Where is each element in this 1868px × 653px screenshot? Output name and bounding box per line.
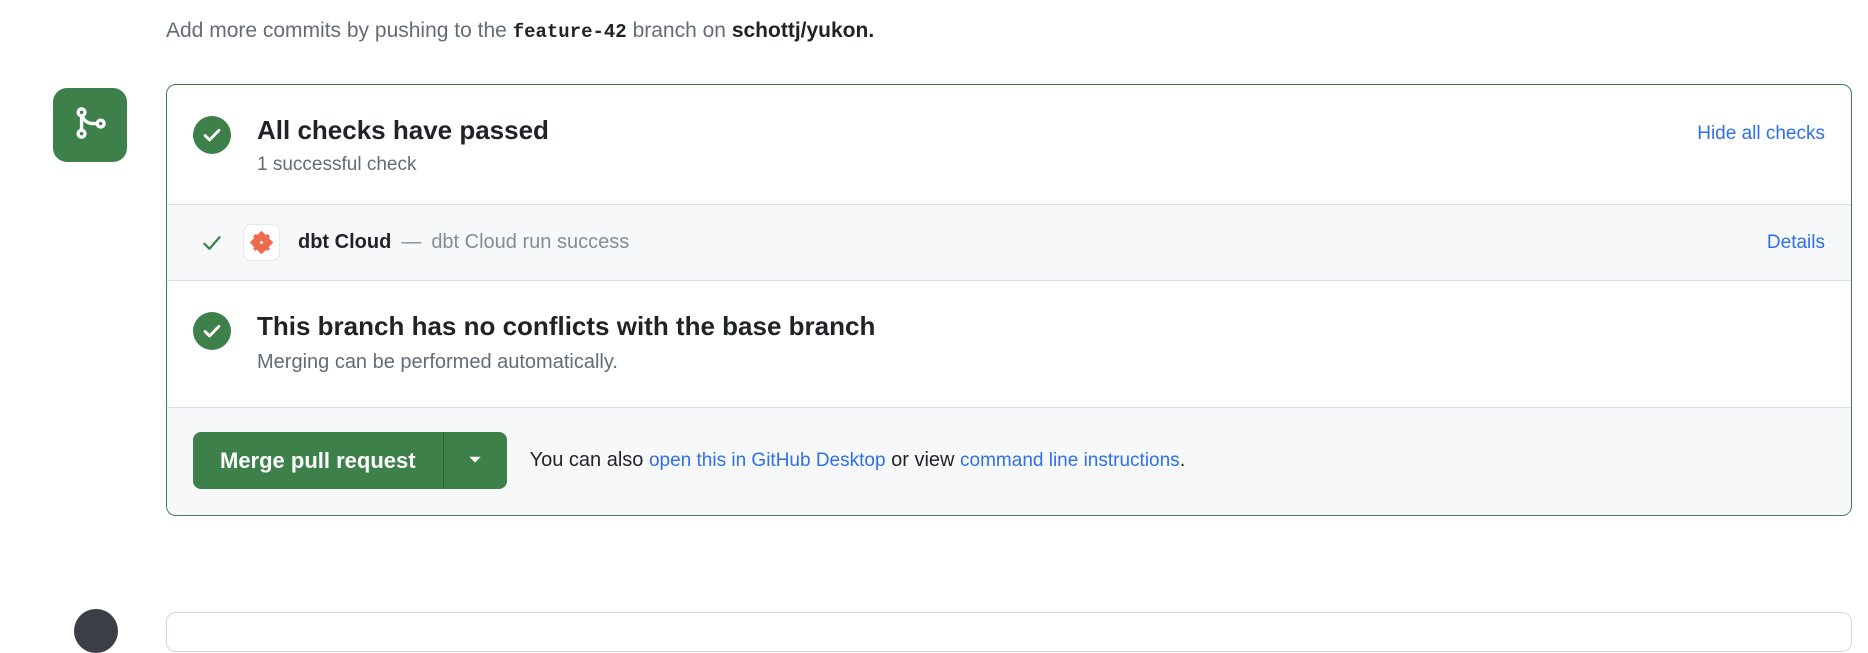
footer-middle: or view [891,449,954,471]
check-row-left: dbt Cloud — dbt Cloud run success [201,224,629,261]
merge-options-dropdown-button[interactable] [444,432,507,489]
check-details-link[interactable]: Details [1767,230,1825,256]
check-separator: — [401,231,421,254]
check-row[interactable]: dbt Cloud — dbt Cloud run success Detail… [167,204,1851,281]
check-circle-icon [193,312,231,350]
timeline-merge-badge [53,88,127,162]
merge-pull-request-button[interactable]: Merge pull request [193,432,444,489]
conflicts-subtitle: Merging can be performed automatically. [257,349,875,376]
footer-suffix: . [1180,449,1186,471]
push-commits-notice: Add more commits by pushing to the featu… [166,16,874,47]
hide-all-checks-link[interactable]: Hide all checks [1697,121,1825,147]
avatar [74,609,118,653]
command-line-instructions-link[interactable]: command line instructions [960,450,1180,471]
github-desktop-link[interactable]: open this in GitHub Desktop [649,450,886,471]
chevron-down-icon [466,450,484,471]
conflicts-title: This branch has no conflicts with the ba… [257,310,875,342]
push-notice-middle: branch on [633,19,726,42]
footer-prefix: You can also [530,449,644,471]
check-circle-icon [193,116,231,154]
next-timeline-box [166,612,1852,652]
merge-footer: Merge pull request You can also open thi… [167,408,1851,515]
checks-subtitle: 1 successful check [257,152,549,178]
conflicts-text: This branch has no conflicts with the ba… [257,310,875,376]
git-merge-icon [72,105,108,146]
merge-footer-text: You can also open this in GitHub Desktop… [530,448,1186,474]
checks-header-left: All checks have passed 1 successful chec… [193,114,549,178]
merge-status-box: All checks have passed 1 successful chec… [166,84,1852,516]
dbt-cloud-icon [243,224,280,261]
check-icon [201,232,225,254]
checks-status-text: All checks have passed 1 successful chec… [257,114,549,178]
check-name: dbt Cloud [298,231,391,254]
merge-button-group: Merge pull request [193,432,507,489]
push-notice-suffix: . [868,19,874,42]
push-notice-prefix: Add more commits by pushing to the [166,19,507,42]
branch-name: feature-42 [513,21,627,43]
check-description: dbt Cloud run success [431,231,629,254]
checks-title: All checks have passed [257,114,549,146]
checks-header: All checks have passed 1 successful chec… [167,85,1851,204]
conflicts-status-row: This branch has no conflicts with the ba… [167,281,1851,408]
repo-name: schottj/yukon [732,19,869,42]
